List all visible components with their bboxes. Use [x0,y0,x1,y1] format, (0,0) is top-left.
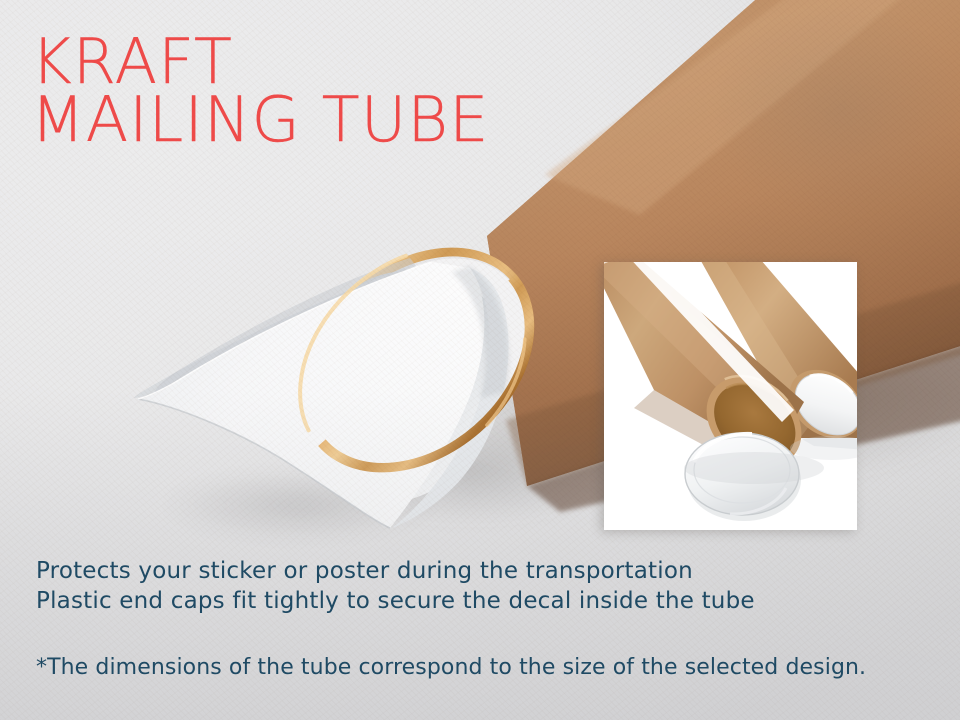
footnote-text: *The dimensions of the tube correspond t… [36,655,866,680]
feature-line-2: Plastic end caps fit tightly to secure t… [36,586,755,616]
corner-vignette [660,0,960,260]
page-title: KRAFT MAILING TUBE [31,33,490,148]
headline-line-2: MAILING TUBE [31,91,490,149]
feature-text: Protects your sticker or poster during t… [36,556,755,617]
product-promo-poster: KRAFT MAILING TUBE Protects your sticker… [0,0,960,720]
inset-product-photo[interactable] [604,262,857,530]
feature-line-1: Protects your sticker or poster during t… [36,556,755,586]
